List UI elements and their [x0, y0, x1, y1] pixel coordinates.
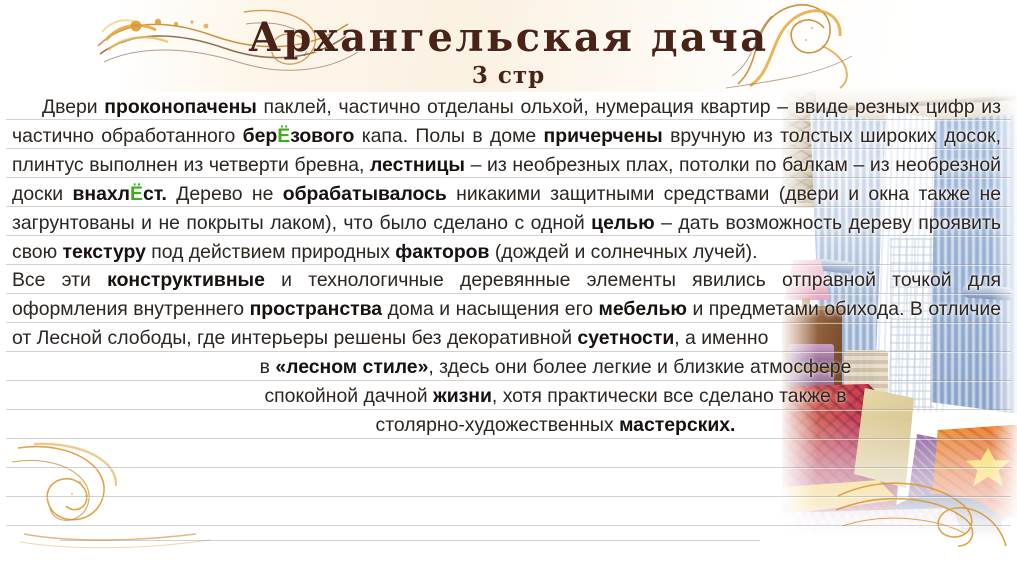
- tail-line-3: столярно-художественных мастерских.: [0, 411, 1017, 440]
- emphasis-run: мебелью: [599, 298, 687, 320]
- emphasis-run: жизни: [433, 385, 492, 407]
- text-run: под действием природных: [146, 241, 395, 263]
- bottom-divider: [60, 540, 760, 541]
- emphasis-run: целью: [591, 212, 655, 234]
- tail-line-1: в «лесном стиле», здесь они более легкие…: [0, 353, 1017, 382]
- page-subtitle: 3 стр: [0, 62, 1017, 89]
- text-run: внахл: [72, 183, 130, 205]
- body-text: Двери проконопачены паклей, частично отд…: [0, 92, 1017, 540]
- page-title: Архангельская дача: [0, 14, 1017, 61]
- yo-letter-highlight: Ё: [277, 125, 290, 147]
- text-run: , а именно: [674, 327, 768, 349]
- emphasis-run: суетности: [577, 327, 674, 349]
- text-run: (дождей и солнечных лучей).: [489, 241, 757, 263]
- emphasis-run: внахлЁст.: [72, 183, 166, 205]
- text-run: в: [260, 356, 276, 378]
- emphasis-run: мастерских.: [619, 414, 735, 436]
- text-run: ст.: [143, 183, 167, 205]
- text-run: , хотя практически все сделано также в: [492, 385, 847, 407]
- emphasis-run: пространства: [250, 298, 383, 320]
- emphasis-run: конструктивные: [107, 269, 265, 291]
- header: Архангельская дача 3 стр: [0, 0, 1017, 92]
- tail-line-2: спокойной дачной жизни, хотя практически…: [0, 382, 1017, 411]
- emphasis-run: проконопачены: [104, 96, 257, 118]
- text-run: зового: [290, 125, 354, 147]
- paragraph-1: Двери проконопачены паклей, частично отд…: [0, 92, 1017, 266]
- emphasis-run: факторов: [395, 241, 489, 263]
- emphasis-run: лестницы: [370, 154, 465, 176]
- text-run: Двери: [42, 96, 104, 118]
- slide-root: Архангельская дача 3 стр Двери проконопа…: [0, 0, 1017, 561]
- text-run: столярно-художественных: [376, 414, 620, 436]
- emphasis-run: текстуру: [63, 241, 146, 263]
- emphasis-run: обрабатывалось: [283, 183, 447, 205]
- text-run: , здесь они более легкие и близкие атмос…: [428, 356, 851, 378]
- text-run: бер: [243, 125, 278, 147]
- text-run: Дерево не: [167, 183, 283, 205]
- emphasis-run: причерчены: [544, 125, 663, 147]
- text-run: спокойной дачной: [264, 385, 433, 407]
- emphasis-run: «лесном стиле»: [275, 356, 428, 378]
- text-run: Все эти: [12, 269, 107, 291]
- yo-letter-highlight: Ё: [130, 183, 143, 205]
- paragraph-2: Все эти конструктивные и технологичные д…: [0, 266, 1017, 353]
- text-run: капа. Полы в доме: [354, 125, 543, 147]
- text-run: дома и насыщения его: [382, 298, 598, 320]
- emphasis-run: берЁзового: [243, 125, 355, 147]
